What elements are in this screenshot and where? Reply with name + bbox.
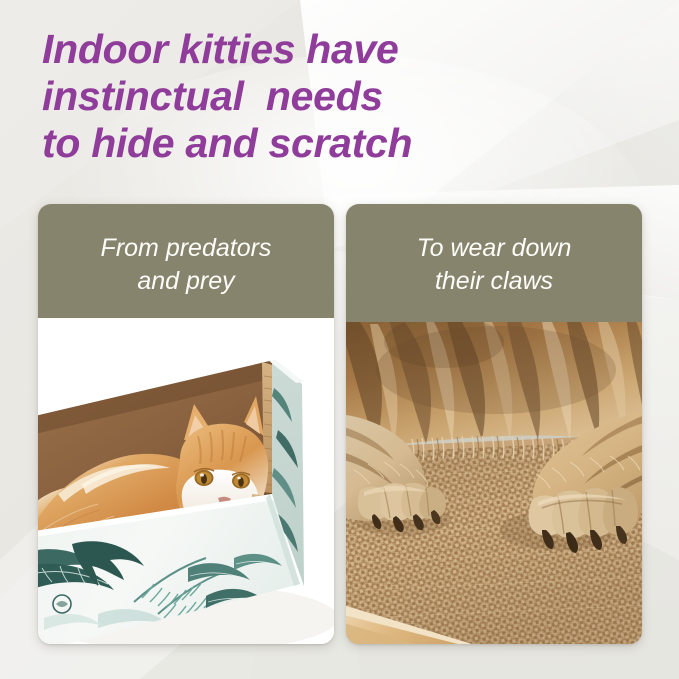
- feature-card-row: From predators and prey: [38, 204, 642, 644]
- card-scratch-header-line-2: their claws: [346, 265, 642, 298]
- card-hide-header: From predators and prey: [38, 204, 334, 318]
- headline-line-2: instinctual needs: [42, 73, 562, 120]
- card-scratch[interactable]: To wear down their claws: [346, 204, 642, 644]
- card-scratch-header-line-1: To wear down: [346, 232, 642, 265]
- page-headline: Indoor kitties have instinctual needs to…: [42, 26, 562, 167]
- headline-line-1: Indoor kitties have: [42, 26, 562, 73]
- card-hide[interactable]: From predators and prey: [38, 204, 334, 644]
- card-scratch-image-area: [346, 322, 642, 644]
- card-hide-header-line-2: and prey: [38, 265, 334, 298]
- card-hide-header-line-1: From predators: [38, 232, 334, 265]
- orange-cat-in-cardboard-box-photo: [38, 318, 334, 644]
- card-scratch-header: To wear down their claws: [346, 204, 642, 322]
- card-hide-image-area: [38, 318, 334, 644]
- headline-line-3: to hide and scratch: [42, 120, 562, 167]
- tabby-cat-paws-on-sisal-scratcher-photo: [346, 322, 642, 644]
